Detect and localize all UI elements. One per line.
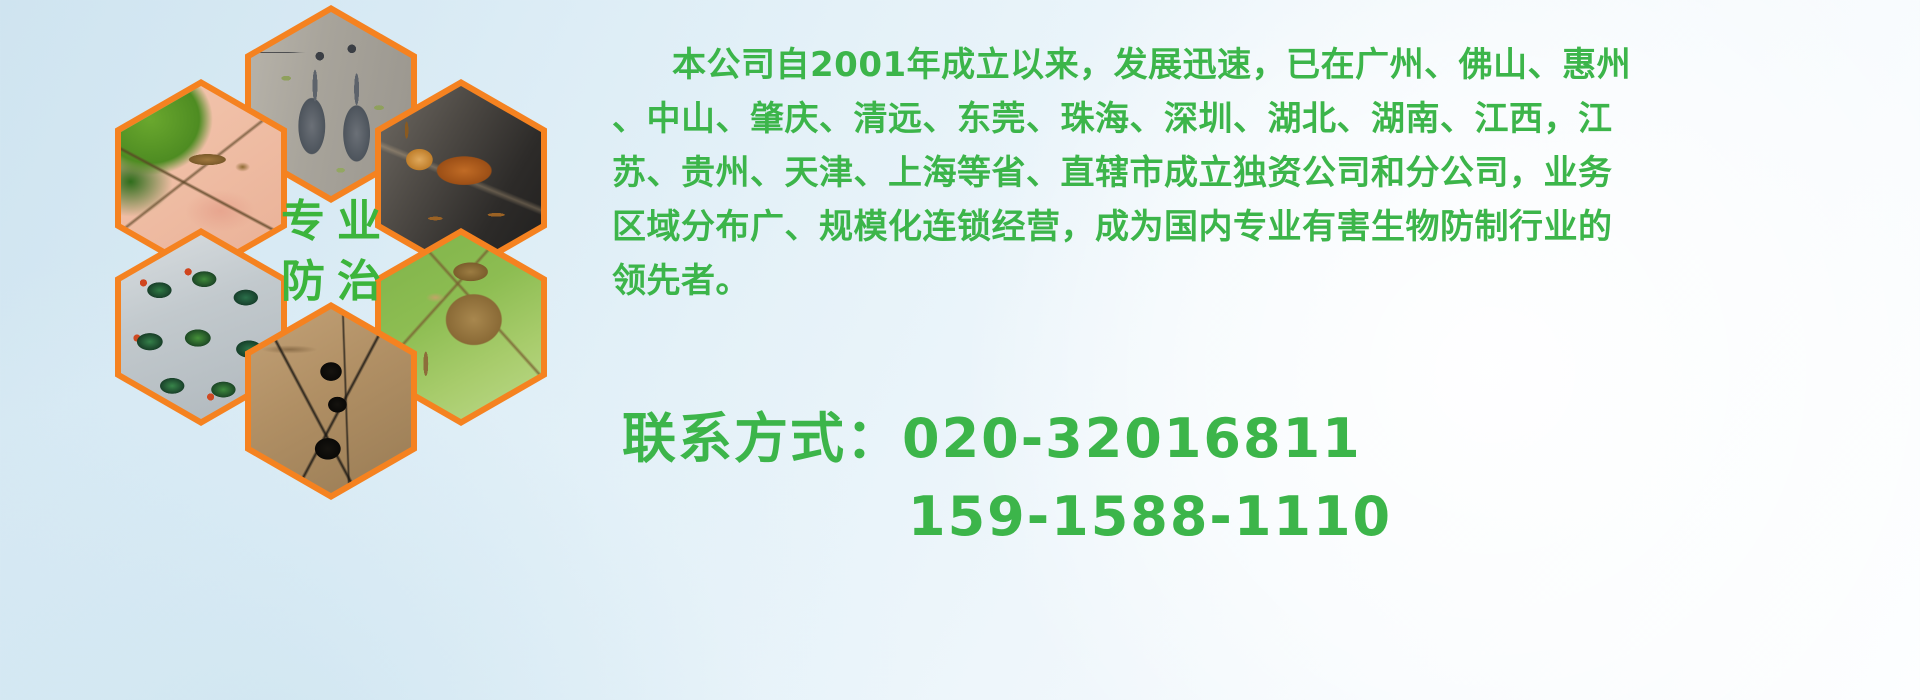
slogan-line-1: 专业 <box>269 200 393 244</box>
contact-phone-landline[interactable]: 联系方式：020-32016811 <box>622 400 1912 478</box>
contact-block: 联系方式：020-32016811 159-1588-1110 <box>622 400 1912 556</box>
about-line-3: 苏、贵州、天津、上海等省、直辖市成立独资公司和分公司，业务 <box>612 146 1914 200</box>
contact-phone-mobile[interactable]: 159-1588-1110 <box>622 478 1912 556</box>
about-line-2: 、中山、肇庆、清远、东莞、珠海、深圳、湖北、湖南、江西，江 <box>612 92 1914 146</box>
content-column: 本公司自2001年成立以来，发展迅速，已在广州、佛山、惠州 、中山、肇庆、清远、… <box>612 0 1912 700</box>
about-line-1: 本公司自2001年成立以来，发展迅速，已在广州、佛山、惠州 <box>612 38 1914 92</box>
about-line-5: 领先者。 <box>612 254 1914 308</box>
honeycomb-gallery: 专业 防治 <box>88 0 588 580</box>
slogan-line-2: 防治 <box>269 260 393 304</box>
about-line-4: 区域分布广、规模化连锁经营，成为国内专业有害生物防制行业的 <box>612 200 1914 254</box>
about-paragraph: 本公司自2001年成立以来，发展迅速，已在广州、佛山、惠州 、中山、肇庆、清远、… <box>612 38 1914 308</box>
